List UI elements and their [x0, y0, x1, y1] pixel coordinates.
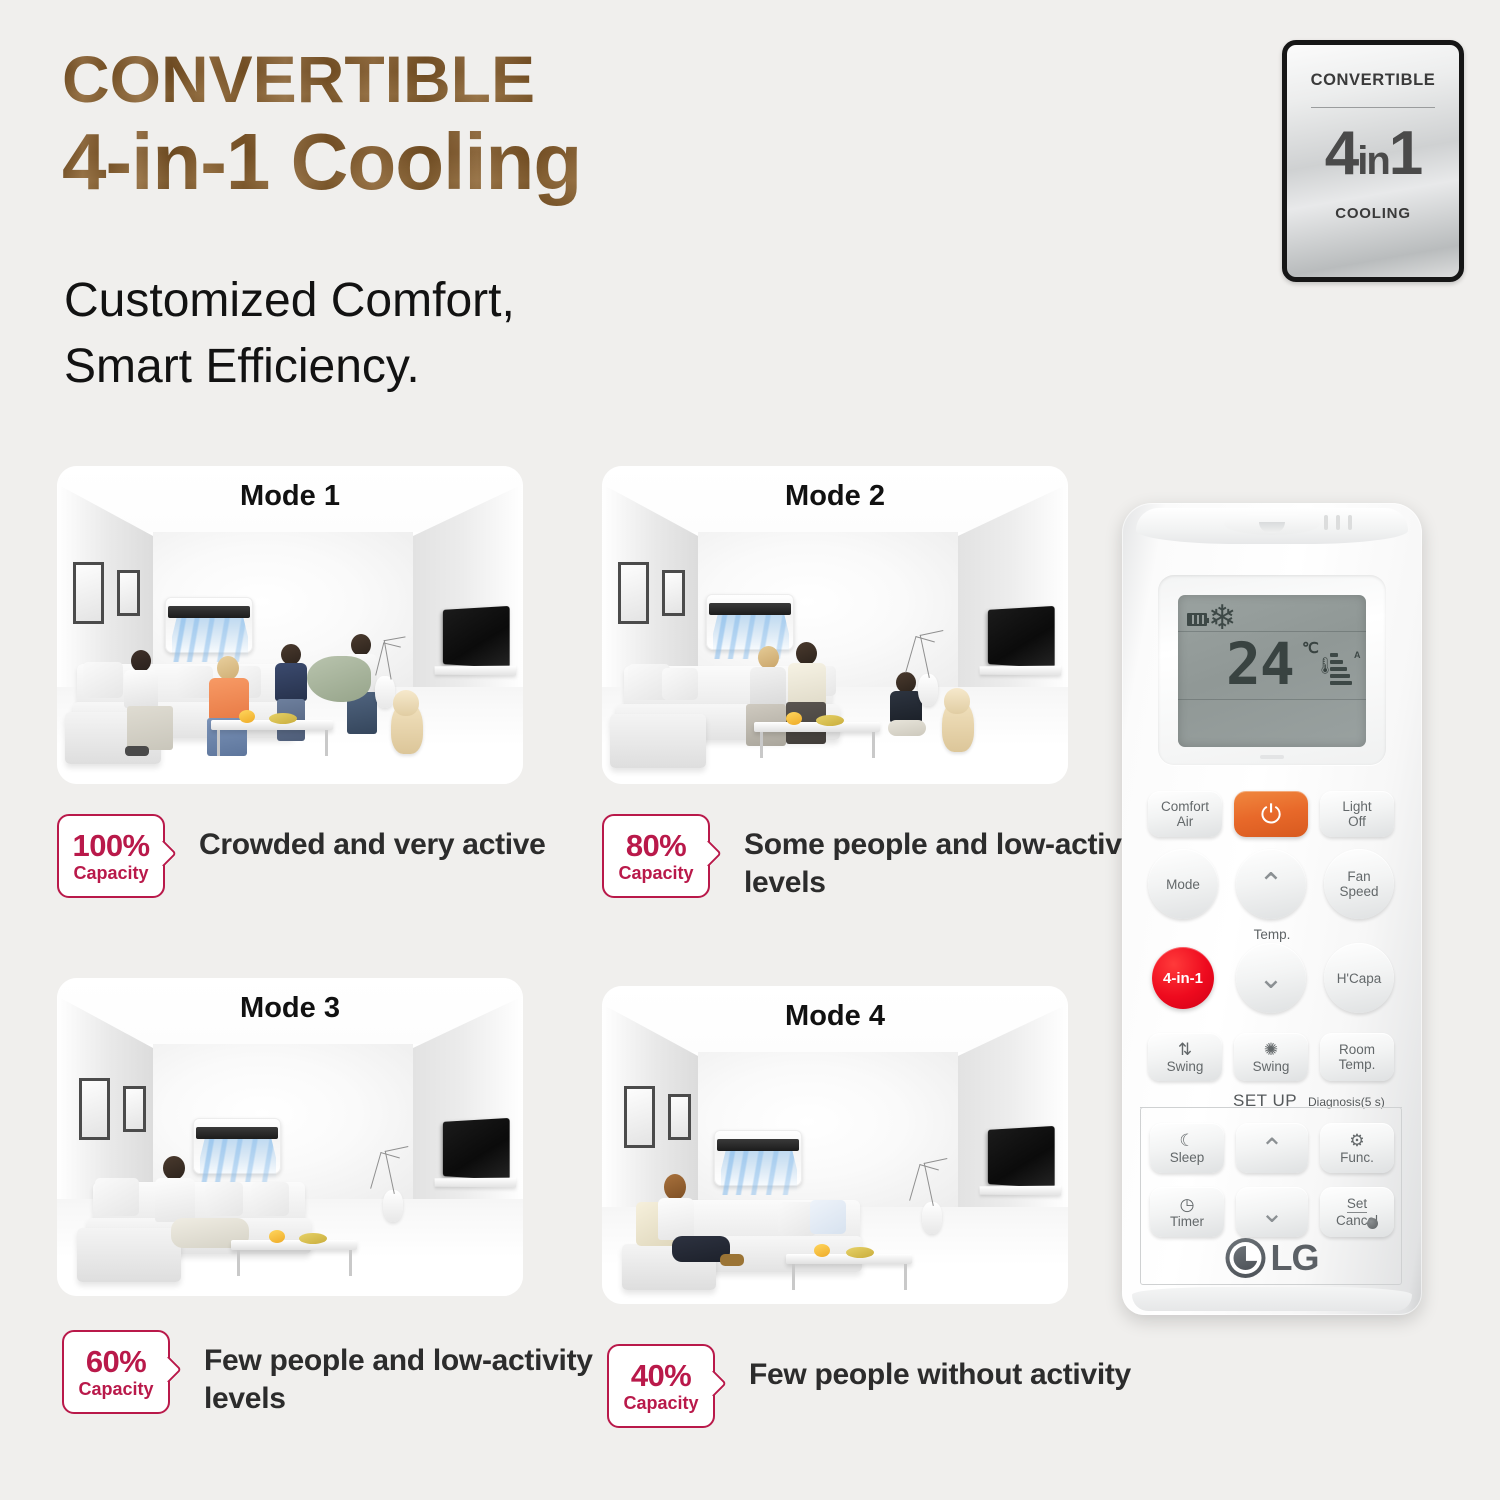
swing-horizontal-label: Swing [1253, 1059, 1290, 1074]
snack-bowl [816, 715, 844, 726]
airflow-icon [172, 618, 248, 662]
fan-speed-label-1: Fan [1347, 869, 1370, 884]
speaker-slot [1336, 515, 1340, 530]
setup-up-button[interactable]: ⌃ [1236, 1123, 1308, 1173]
cushion [177, 666, 213, 698]
power-icon: ⏻ [1261, 807, 1282, 822]
chevron-up-icon: ⌃ [1258, 877, 1283, 892]
h-capa-button[interactable]: H'Capa [1324, 943, 1394, 1013]
swing-vertical-label: Swing [1167, 1059, 1204, 1074]
table-leg [217, 730, 220, 756]
table-leg [872, 732, 875, 758]
comfort-air-label-1: Comfort [1161, 799, 1209, 814]
fan-speed-label-2: Speed [1339, 884, 1378, 899]
capacity-description: Some people and low-activity levels [744, 826, 1164, 902]
light-off-button[interactable]: Light Off [1320, 791, 1394, 837]
lcd-display: ❄ 24 ℃ 🌡 A [1178, 595, 1366, 747]
four-in-one-button[interactable]: 4-in-1 [1152, 947, 1214, 1009]
picture-frame-icon [73, 562, 104, 624]
vase [922, 1202, 942, 1234]
clock-icon: ◷ [1180, 1196, 1195, 1214]
capacity-badge: 100% Capacity [57, 814, 165, 898]
four-in-one-label: 4-in-1 [1163, 971, 1203, 986]
television [988, 1126, 1055, 1188]
badge-bottom-label: COOLING [1335, 205, 1411, 222]
setup-box-top-left [1140, 1107, 1232, 1108]
badge-number-1: 1 [1389, 119, 1421, 188]
chevron-up-icon: ⌃ [1260, 1141, 1283, 1156]
badge-divider [1311, 107, 1435, 108]
lg-mark-icon [1226, 1238, 1266, 1278]
snack-bowl [269, 713, 297, 724]
battery-icon [1187, 613, 1207, 626]
cushion [810, 1200, 846, 1234]
room-illustration [602, 466, 1068, 784]
moon-icon: ☾ [1179, 1132, 1194, 1150]
picture-frame-icon [662, 570, 685, 616]
subtitle-line2: Smart Efficiency. [64, 334, 515, 400]
television [988, 606, 1055, 668]
sleep-label: Sleep [1170, 1150, 1205, 1165]
remote-control: ❄ 24 ℃ 🌡 A Comfort Air ⏻ Light Off Mode … [1122, 503, 1422, 1315]
badge-4in1-text: 4in1 [1325, 120, 1422, 195]
mode-title: Mode 4 [602, 1000, 1068, 1033]
swing-vertical-icon: ⇅ [1178, 1041, 1192, 1059]
speaker-slot [1324, 515, 1328, 530]
airflow-icon [721, 1151, 797, 1195]
coffee-table [231, 1240, 357, 1250]
air-conditioner-unit [714, 1130, 802, 1186]
ac-vent [168, 606, 250, 618]
vase [375, 676, 395, 708]
func-button[interactable]: ⚙ Func. [1320, 1123, 1394, 1173]
bezel-notch [1260, 755, 1284, 759]
light-off-label-2: Off [1348, 814, 1366, 829]
mode-title: Mode 3 [57, 992, 523, 1025]
room-illustration [57, 466, 523, 784]
capacity-badge: 80% Capacity [602, 814, 710, 898]
capacity-label: Capacity [618, 862, 693, 884]
comfort-air-label-2: Air [1177, 814, 1194, 829]
table-leg [237, 1250, 240, 1276]
lcd-fan-auto-label: A [1354, 650, 1361, 660]
mode-label: Mode [1166, 877, 1200, 892]
coffee-table [754, 722, 880, 732]
room-illustration [57, 978, 523, 1296]
mode-panel-3: Mode 3 [57, 978, 523, 1296]
ir-transmitter-dome [1224, 513, 1320, 535]
badge-in: in [1357, 139, 1389, 183]
air-conditioner-unit [706, 594, 794, 650]
timer-button[interactable]: ◷ Timer [1150, 1187, 1224, 1237]
func-label: Func. [1340, 1150, 1374, 1165]
ac-vent [717, 1139, 799, 1151]
swing-vertical-button[interactable]: ⇅ Swing [1148, 1033, 1222, 1081]
timer-label: Timer [1170, 1214, 1204, 1229]
lcd-divider [1178, 699, 1366, 700]
swing-horizontal-icon: ✺ [1264, 1041, 1278, 1059]
mode-panel-2: Mode 2 [602, 466, 1068, 784]
table-leg [904, 1264, 907, 1290]
mode-title: Mode 1 [57, 480, 523, 513]
mode-title: Mode 2 [602, 480, 1068, 513]
television [443, 606, 510, 668]
picture-frame-icon [123, 1086, 146, 1132]
ac-vent [709, 603, 791, 615]
room-temp-label-2: Temp. [1339, 1057, 1376, 1072]
h-capa-label: H'Capa [1337, 971, 1382, 986]
lg-wordmark: LG [1271, 1237, 1319, 1279]
dog-head [944, 688, 970, 714]
page-title: CONVERTIBLE 4-in-1 Cooling [62, 42, 581, 208]
swing-horizontal-button[interactable]: ✺ Swing [1234, 1033, 1308, 1081]
room-temp-label-1: Room [1339, 1042, 1375, 1057]
air-conditioner-unit [165, 597, 253, 653]
sofa-chaise [610, 714, 706, 768]
lcd-bezel: ❄ 24 ℃ 🌡 A [1158, 575, 1386, 765]
snack-bowl [299, 1233, 327, 1244]
vase [383, 1190, 403, 1222]
picture-frame-icon [618, 562, 649, 624]
capacity-badge: 40% Capacity [607, 1344, 715, 1428]
temp-label: Temp. [1122, 927, 1422, 942]
gear-icon: ⚙ [1349, 1132, 1364, 1150]
power-button[interactable]: ⏻ [1234, 791, 1308, 837]
capacity-row-4: 40% Capacity Few people without activity [607, 1344, 1131, 1428]
chevron-down-icon: ⌄ [1260, 1205, 1283, 1220]
drink-glass [239, 710, 255, 723]
chevron-down-icon: ⌄ [1258, 971, 1283, 986]
capacity-row-2: 80% Capacity Some people and low-activit… [602, 814, 1164, 902]
blanket [307, 656, 371, 702]
capacity-row-3: 60% Capacity Few people and low-activity… [62, 1330, 624, 1418]
picture-frame-icon [624, 1086, 655, 1148]
tv-shelf [435, 1178, 516, 1188]
light-off-label-1: Light [1342, 799, 1371, 814]
picture-frame-icon [117, 570, 140, 616]
subtitle: Customized Comfort, Smart Efficiency. [64, 268, 515, 400]
setup-box-top-right [1304, 1107, 1402, 1108]
drink-glass [269, 1230, 285, 1243]
vase [918, 674, 938, 706]
tv-shelf [980, 666, 1061, 676]
tv-shelf [980, 1186, 1061, 1196]
picture-frame-icon [79, 1078, 110, 1140]
temp-up-button[interactable]: ⌃ [1236, 849, 1306, 919]
remote-bottom-lip [1132, 1287, 1412, 1311]
picture-frame-icon [668, 1094, 691, 1140]
capacity-row-1: 100% Capacity Crowded and very active [57, 814, 546, 898]
ac-vent [196, 1127, 278, 1139]
fan-speed-button[interactable]: Fan Speed [1324, 849, 1394, 919]
capacity-label: Capacity [78, 1378, 153, 1400]
room-temp-button[interactable]: Room Temp. [1320, 1033, 1394, 1081]
lcd-temperature-value: 24 [1226, 635, 1294, 693]
headline-line1: CONVERTIBLE [62, 42, 581, 116]
airflow-icon [200, 1139, 276, 1183]
temp-down-button[interactable]: ⌄ [1236, 943, 1306, 1013]
speaker-slot [1348, 515, 1352, 530]
cushion [83, 662, 123, 698]
table-leg [760, 732, 763, 758]
setup-down-button[interactable]: ⌄ [1236, 1187, 1308, 1237]
set-cancel-button[interactable]: Set Cancel [1320, 1187, 1394, 1237]
television [443, 1118, 510, 1180]
comfort-air-button[interactable]: Comfort Air [1148, 791, 1222, 837]
cushion [251, 1182, 289, 1216]
set-label: Set [1347, 1196, 1367, 1213]
capacity-description: Few people and low-activity levels [204, 1342, 624, 1418]
sleep-button[interactable]: ☾ Sleep [1150, 1123, 1224, 1173]
cushion [95, 1178, 139, 1216]
capacity-description: Few people without activity [749, 1356, 1131, 1394]
room-illustration [602, 986, 1068, 1304]
badge-number-4: 4 [1325, 119, 1357, 188]
drink-glass [786, 712, 802, 725]
capacity-percent: 60% [86, 1345, 146, 1378]
badge-top-label: CONVERTIBLE [1311, 71, 1436, 90]
headline-line2: 4-in-1 Cooling [62, 116, 581, 208]
capacity-percent: 80% [626, 829, 686, 862]
dog-head [393, 690, 419, 716]
capacity-percent: 40% [631, 1359, 691, 1392]
convertible-4in1-badge: CONVERTIBLE 4in1 COOLING [1282, 40, 1464, 282]
capacity-description: Crowded and very active [199, 826, 546, 864]
capacity-badge: 60% Capacity [62, 1330, 170, 1414]
mode-panel-4: Mode 4 [602, 986, 1068, 1304]
mode-panel-1: Mode 1 [57, 466, 523, 784]
mode-button[interactable]: Mode [1148, 849, 1218, 919]
sofa-chaise [77, 1228, 181, 1282]
air-conditioner-unit [193, 1118, 281, 1174]
fan-speed-bars-icon [1330, 653, 1352, 688]
drink-glass [814, 1244, 830, 1257]
table-leg [792, 1264, 795, 1290]
lg-brand-logo: LG [1226, 1237, 1319, 1279]
capacity-percent: 100% [73, 829, 150, 862]
tv-shelf [435, 666, 516, 676]
table-leg [325, 730, 328, 756]
cushion [662, 668, 698, 700]
capacity-label: Capacity [623, 1392, 698, 1414]
subtitle-line1: Customized Comfort, [64, 268, 515, 334]
table-leg [349, 1250, 352, 1276]
snack-bowl [846, 1247, 874, 1258]
lcd-temperature-unit: ℃ [1302, 639, 1319, 657]
cushion [205, 1182, 243, 1216]
ir-led-indicator [1367, 1218, 1378, 1229]
capacity-label: Capacity [73, 862, 148, 884]
